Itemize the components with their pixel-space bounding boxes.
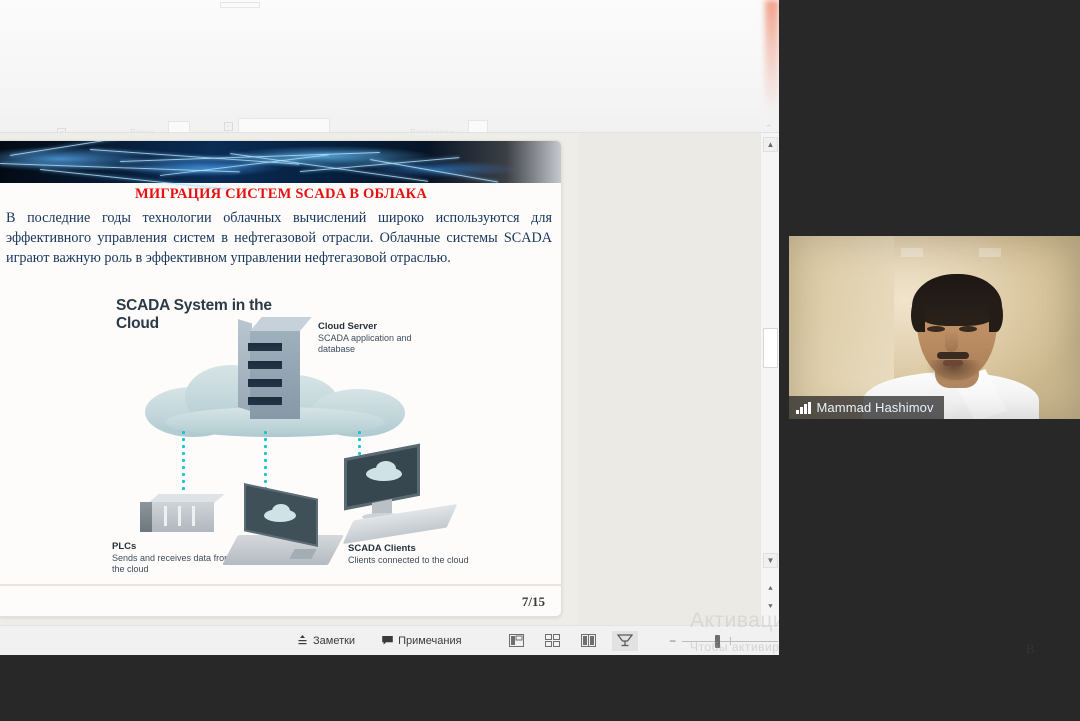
conference-backdrop-bottom bbox=[0, 655, 1080, 721]
cloud-server-label: Cloud Server SCADA application and datab… bbox=[318, 321, 438, 356]
slide-sorter-icon bbox=[545, 634, 560, 647]
cloud-server-icon bbox=[238, 319, 300, 419]
plcs-label: PLCs Sends and receives data from the cl… bbox=[112, 541, 232, 576]
scroll-down-button[interactable]: ▼ bbox=[763, 553, 778, 568]
zoom-in-button[interactable]: + bbox=[778, 634, 779, 648]
participant-name: Mammad Hashimov bbox=[817, 400, 934, 415]
slide-canvas[interactable]: МИГРАЦИЯ СИСТЕМ SCADA В ОБЛАКА В последн… bbox=[0, 140, 562, 617]
reading-view-button[interactable] bbox=[576, 631, 602, 651]
comment-bubble-icon bbox=[381, 634, 394, 647]
powerpoint-window: ⌐ Рисун ⌐ Рисование bbox=[0, 0, 779, 655]
status-bar: Заметки Примечания bbox=[0, 625, 779, 655]
slide-number: 7/15 bbox=[522, 594, 545, 610]
scada-cloud-infographic: SCADA System in the Cloud bbox=[0, 291, 562, 591]
plcs-desc: Sends and receives data from the cloud bbox=[112, 553, 232, 575]
ribbon-ghost-tabstrip[interactable] bbox=[220, 2, 260, 8]
ribbon-dialog-launcher-mid[interactable]: ⌐ bbox=[224, 122, 233, 131]
window-close-button[interactable] bbox=[765, 0, 779, 112]
notes-button[interactable]: Заметки bbox=[290, 630, 361, 652]
slide-title: МИГРАЦИЯ СИСТЕМ SCADA В ОБЛАКА bbox=[0, 186, 562, 203]
slide-body-text: В последние годы технологии облачных выч… bbox=[6, 208, 552, 268]
slideshow-icon bbox=[617, 634, 633, 647]
slideshow-view-button[interactable] bbox=[612, 631, 638, 651]
signal-bars-icon bbox=[796, 402, 811, 414]
zoom-slider-thumb[interactable] bbox=[715, 635, 720, 648]
reading-view-icon bbox=[581, 634, 596, 647]
plcs-title: PLCs bbox=[112, 541, 136, 552]
scada-clients-desc: Clients connected to the cloud bbox=[348, 555, 469, 565]
scroll-top-chevron-icon: ⌃ bbox=[765, 123, 773, 134]
zoom-control[interactable]: − + 72 % bbox=[664, 631, 779, 651]
zoom-out-button[interactable]: − bbox=[664, 634, 682, 648]
participant-name-badge: Mammad Hashimov bbox=[789, 396, 944, 419]
screen-root: B ⌐ Рисун ⌐ Рисование bbox=[0, 0, 1080, 721]
notes-label: Заметки bbox=[313, 635, 355, 647]
next-slide-button[interactable]: ⯆ bbox=[763, 599, 778, 614]
participant-video-tile[interactable]: Mammad Hashimov bbox=[789, 236, 1080, 419]
previous-slide-button[interactable]: ⯅ bbox=[763, 581, 778, 596]
ribbon[interactable]: ⌐ Рисун ⌐ Рисование bbox=[0, 0, 779, 133]
scada-clients-title: SCADA Clients bbox=[348, 543, 416, 554]
cloud-server-desc: SCADA application and database bbox=[318, 333, 412, 355]
zoom-slider-track[interactable] bbox=[682, 634, 778, 648]
vertical-scrollbar[interactable]: ⌃ ▲ ▼ ⯅ ⯆ bbox=[760, 133, 779, 625]
cloud-server-title: Cloud Server bbox=[318, 321, 377, 332]
comments-label: Примечания bbox=[398, 635, 462, 647]
laptop-icon bbox=[238, 491, 348, 571]
comments-button[interactable]: Примечания bbox=[375, 630, 468, 652]
slide-work-area: МИГРАЦИЯ СИСТЕМ SCADA В ОБЛАКА В последн… bbox=[0, 133, 779, 625]
plc-device-icon bbox=[140, 496, 214, 536]
scada-clients-label: SCADA Clients Clients connected to the c… bbox=[348, 543, 478, 566]
view-mode-buttons bbox=[504, 631, 638, 651]
normal-view-button[interactable] bbox=[504, 631, 530, 651]
slide-header-banner bbox=[0, 141, 562, 183]
zoom-slider-tick bbox=[730, 637, 731, 645]
corner-glyph: B bbox=[1026, 641, 1035, 657]
scroll-up-button[interactable]: ▲ bbox=[763, 137, 778, 152]
video-vignette bbox=[789, 236, 1080, 419]
slide-footer-rule bbox=[0, 584, 562, 586]
slide-sorter-view-button[interactable] bbox=[540, 631, 566, 651]
scrollbar-thumb[interactable] bbox=[763, 328, 778, 368]
notes-icon bbox=[296, 634, 309, 647]
normal-view-icon bbox=[509, 634, 524, 647]
